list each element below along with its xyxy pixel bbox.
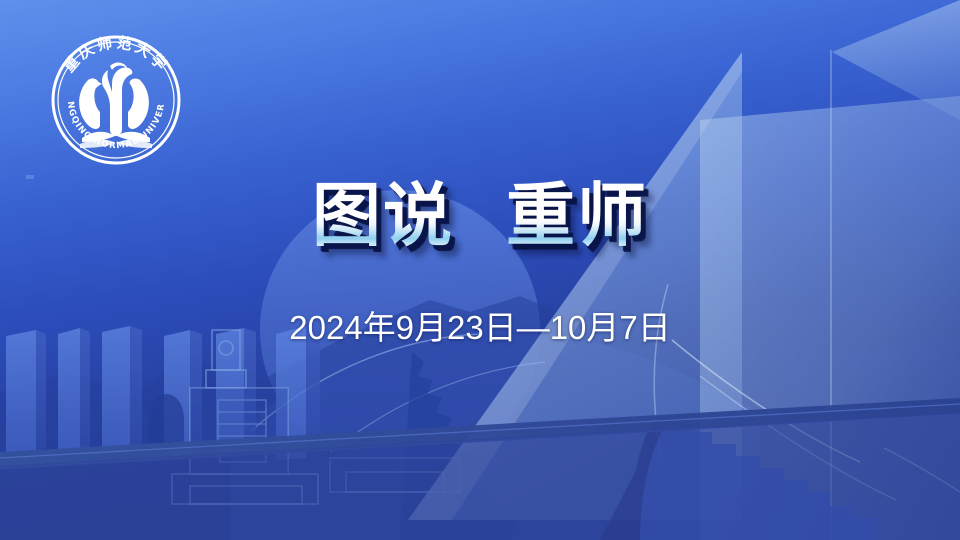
university-logo: 重庆师范大学 CHONGQING NORMAL UNIVERSITY [42,26,190,174]
seal-chinese-name: 重庆师范大学 [60,33,172,75]
slide-date-range: 2024年9月23日—10月7日 [0,308,960,348]
university-seal-icon: 重庆师范大学 CHONGQING NORMAL UNIVERSITY [42,26,190,174]
seal-flame-emblem [79,63,149,136]
slide-title: 图说 重师 [0,176,960,256]
presentation-slide: 重庆师范大学 CHONGQING NORMAL UNIVERSITY [0,0,960,540]
